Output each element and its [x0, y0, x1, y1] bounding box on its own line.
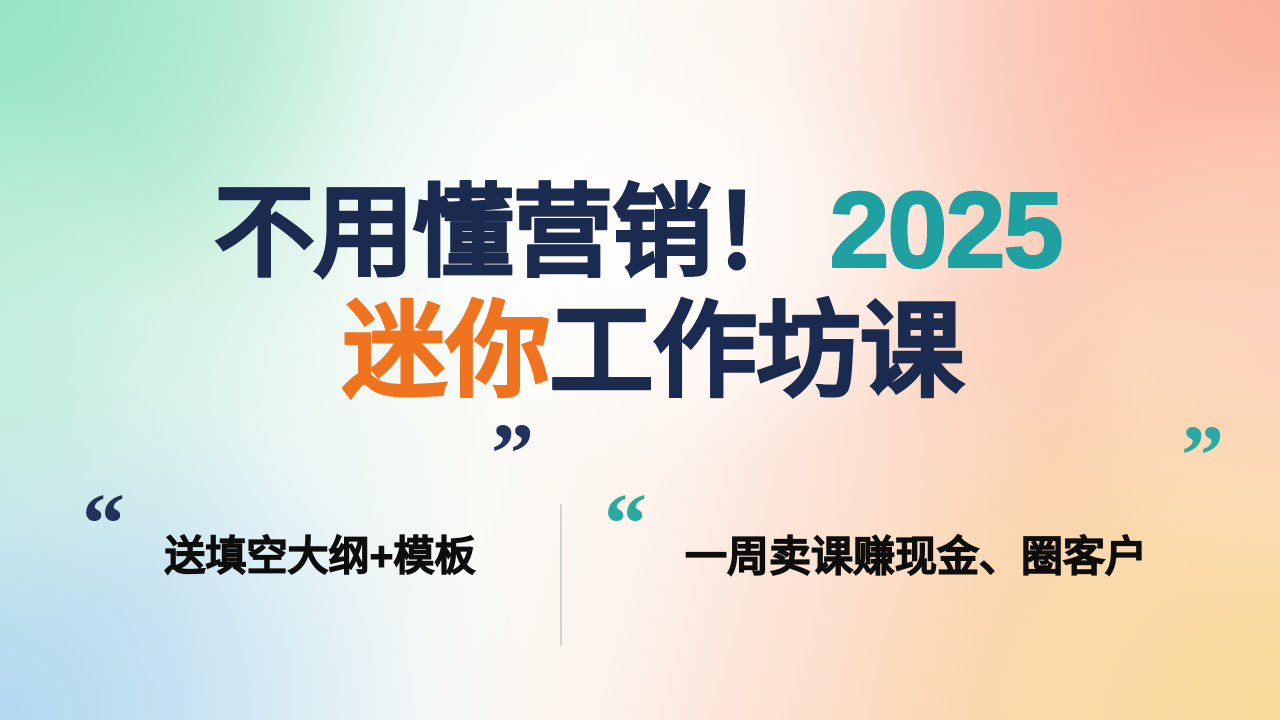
close-quote-icon: ”	[491, 410, 530, 496]
headline-line-2-orange-text: 迷你	[342, 300, 549, 404]
headline-line-2-navy-text: 工作坊课	[550, 300, 964, 404]
poster-canvas: 不用懂营销！2025 迷你工作坊课 “ 送填空大纲+模板 ” “ 一周卖课赚现金…	[0, 0, 1280, 720]
quote-left-text: 送填空大纲+模板	[74, 534, 544, 578]
poster-content: 不用懂营销！2025 迷你工作坊课 “ 送填空大纲+模板 ” “ 一周卖课赚现金…	[0, 0, 1280, 720]
headline-line-1-navy-text: 不用懂营销！	[214, 183, 811, 283]
headline-line-2: 迷你工作坊课	[26, 300, 1280, 404]
headline: 不用懂营销！2025 迷你工作坊课	[0, 176, 1280, 404]
quote-right-text: 一周卖课赚现金、圈客户	[596, 534, 1226, 579]
close-quote-icon: ”	[1181, 412, 1220, 498]
headline-year-2025: 2025	[829, 176, 1061, 284]
headline-line-1: 不用懂营销！2025	[0, 176, 1280, 284]
quote-strip: “ 送填空大纲+模板 ” “ 一周卖课赚现金、圈客户 ”	[0, 486, 1280, 676]
quote-divider	[560, 504, 562, 646]
